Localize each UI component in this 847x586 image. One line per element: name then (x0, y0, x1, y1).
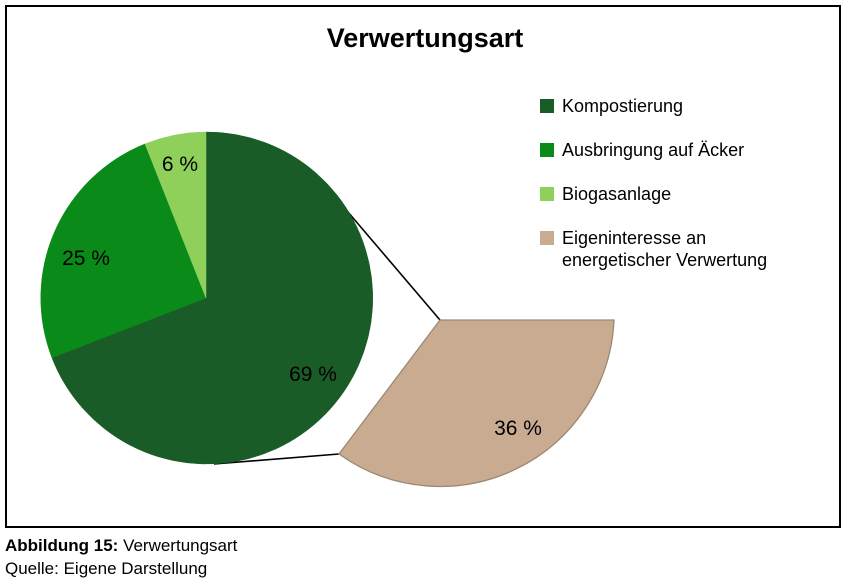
legend-label-kompostierung: Kompostierung (562, 95, 683, 117)
legend-swatch-icon-biogasanlage (540, 187, 554, 201)
slice-label-69: 69 % (289, 363, 337, 386)
chart-legend: Kompostierung Ausbringung auf Äcker Biog… (540, 95, 840, 293)
legend-item-eigeninteresse[interactable]: Eigeninteresse an energetischer Verwertu… (540, 227, 840, 271)
legend-swatch-icon-eigeninteresse (540, 231, 554, 245)
chart-frame: Verwertungsart 69 % 25 % 6 % 36 % Kompo (5, 5, 841, 528)
slice-label-6: 6 % (162, 153, 198, 176)
caption-figure-label: Abbildung 15: (5, 536, 118, 555)
figure-page: Verwertungsart 69 % 25 % 6 % 36 % Kompo (0, 0, 847, 586)
legend-item-kompostierung[interactable]: Kompostierung (540, 95, 840, 117)
slice-label-25: 25 % (62, 247, 110, 270)
caption-figure-line: Abbildung 15: Verwertungsart (5, 534, 841, 557)
caption-source: Quelle: Eigene Darstellung (5, 557, 841, 580)
pie-slice-eigeninteresse[interactable] (339, 320, 614, 486)
legend-swatch-icon-kompostierung (540, 99, 554, 113)
legend-swatch-icon-ausbringung (540, 143, 554, 157)
slice-label-36: 36 % (494, 417, 542, 440)
legend-label-biogasanlage: Biogasanlage (562, 183, 671, 205)
legend-item-ausbringung[interactable]: Ausbringung auf Äcker (540, 139, 840, 161)
legend-item-biogasanlage[interactable]: Biogasanlage (540, 183, 840, 205)
figure-caption: Abbildung 15: Verwertungsart Quelle: Eig… (5, 534, 841, 580)
legend-label-eigeninteresse: Eigeninteresse an energetischer Verwertu… (562, 227, 767, 271)
legend-label-ausbringung: Ausbringung auf Äcker (562, 139, 744, 161)
caption-figure-title: Verwertungsart (123, 536, 237, 555)
